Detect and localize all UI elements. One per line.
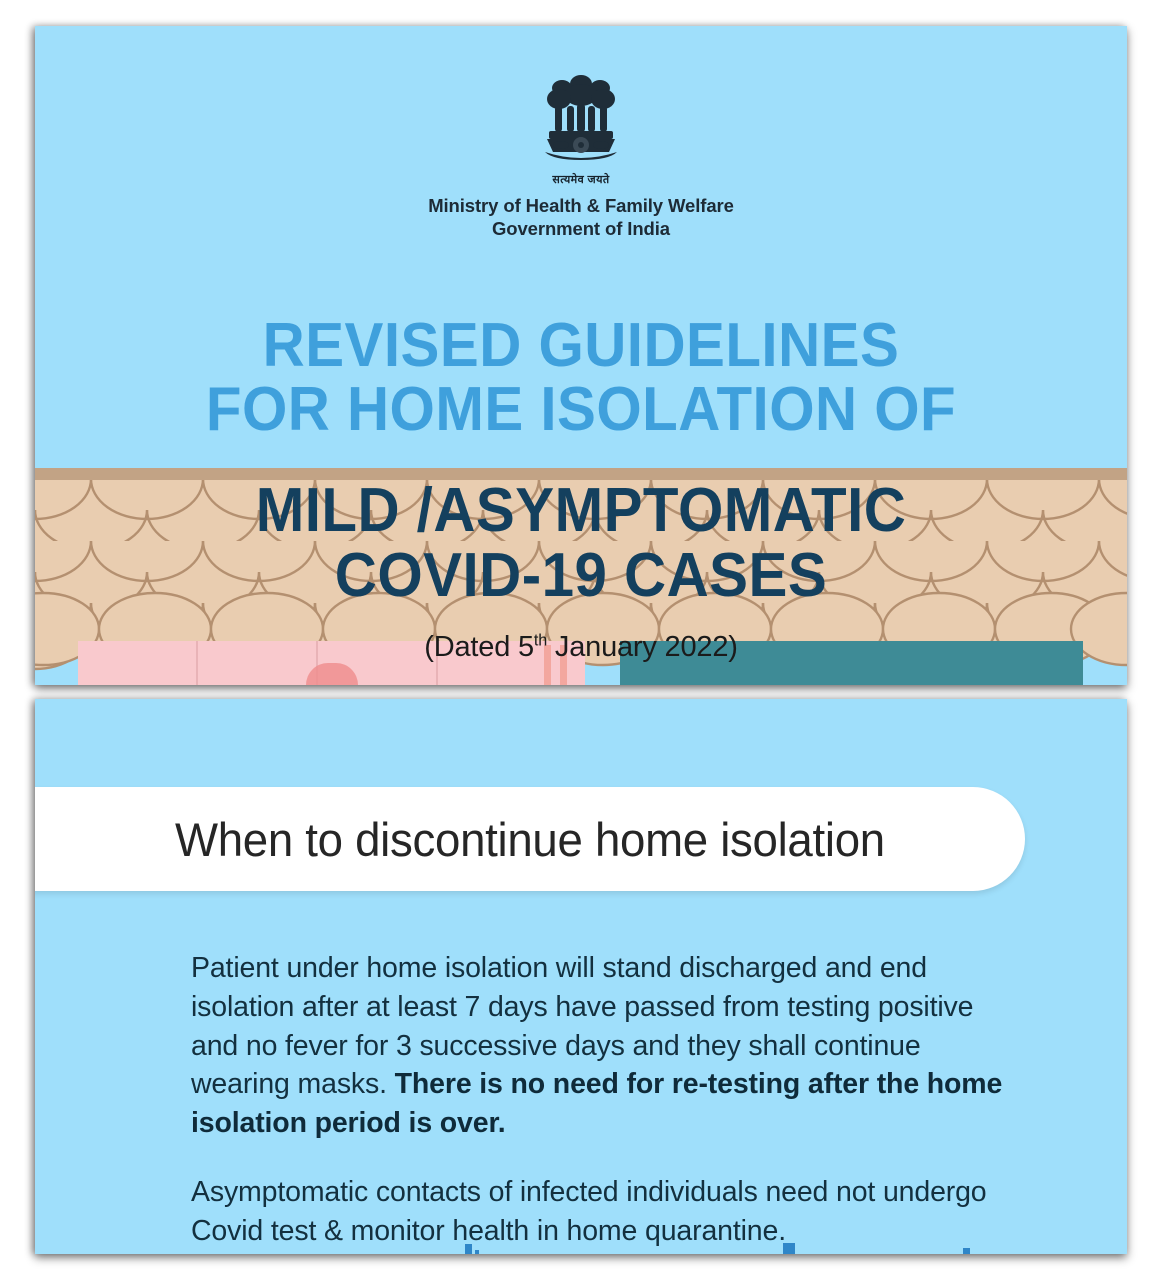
- ministry-emblem-block: सत्यमेव जयते Ministry of Health & Family…: [35, 70, 1127, 240]
- dateline-suffix: January 2022): [547, 631, 738, 663]
- section-heading-text: When to discontinue home isolation: [175, 812, 885, 867]
- dateline-ordinal: th: [534, 631, 547, 649]
- paragraph-1: Patient under home isolation will stand …: [191, 949, 1011, 1143]
- ministry-name-line1: Ministry of Health & Family Welfare: [428, 195, 734, 218]
- headline-blue-line1: REVISED GUIDELINES: [68, 314, 1094, 378]
- paragraph-2-normal: Asymptomatic contacts of infected indivi…: [191, 1176, 987, 1247]
- dateline: (Dated 5th January 2022): [35, 631, 1127, 664]
- cropped-graphic-1: [465, 1244, 472, 1254]
- cropped-graphic-3: [783, 1243, 795, 1254]
- india-state-emblem-ashoka-lion-capital-icon: [533, 70, 629, 174]
- body-copy: Patient under home isolation will stand …: [191, 949, 1011, 1250]
- headline-navy-line2: COVID-19 CASES: [68, 543, 1094, 608]
- emblem-motto: सत्यमेव जयते: [552, 172, 609, 187]
- dateline-prefix: (Dated 5: [424, 631, 534, 663]
- headline-blue: REVISED GUIDELINES FOR HOME ISOLATION OF: [68, 314, 1094, 443]
- section-heading-pill: When to discontinue home isolation: [35, 787, 1025, 891]
- ministry-name-line2: Government of India: [492, 218, 670, 241]
- building-arch: [306, 663, 358, 685]
- cropped-graphic-2: [475, 1250, 479, 1254]
- paragraph-2: Asymptomatic contacts of infected indivi…: [191, 1173, 1011, 1251]
- home-isolation-content-panel: When to discontinue home isolation Patie…: [35, 699, 1127, 1254]
- headline-blue-line2: FOR HOME ISOLATION OF: [68, 378, 1094, 442]
- headline-navy: MILD /ASYMPTOMATIC COVID-19 CASES: [68, 478, 1094, 608]
- guidelines-title-panel: सत्यमेव जयते Ministry of Health & Family…: [35, 26, 1127, 685]
- headline-navy-line1: MILD /ASYMPTOMATIC: [68, 478, 1094, 543]
- cropped-graphic-4: [963, 1248, 970, 1254]
